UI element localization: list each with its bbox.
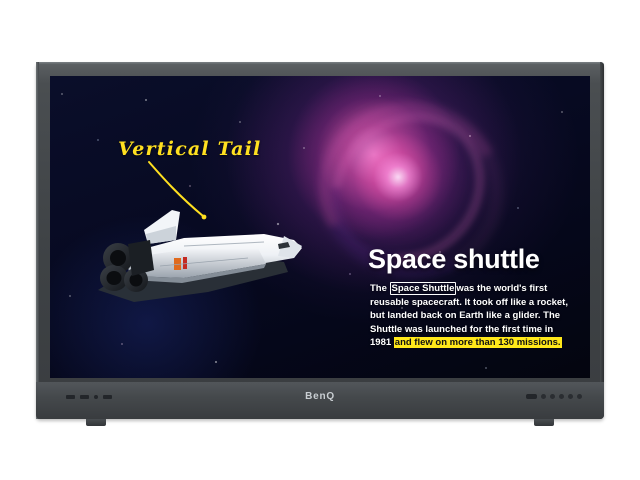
audio-port-icon — [103, 395, 112, 399]
product-photo-stage: Vertical Tail Space shuttle The Space Sh… — [0, 0, 640, 480]
display-chin: BenQ — [36, 382, 604, 419]
power-button-icon[interactable] — [526, 394, 537, 399]
bezel-right-edge — [600, 62, 604, 419]
usb-port-icon — [66, 395, 75, 399]
volume-down-button-icon[interactable] — [550, 394, 555, 399]
bezel-left-edge — [36, 62, 39, 419]
stand-foot-right — [534, 419, 554, 426]
slide-paragraph: The Space Shuttlewas the world's first r… — [370, 282, 574, 350]
ir-sensor-icon — [94, 395, 98, 399]
volume-up-button-icon[interactable] — [559, 394, 564, 399]
display-bezel: Vertical Tail Space shuttle The Space Sh… — [36, 62, 604, 419]
annotation-label: Vertical Tail — [118, 138, 261, 160]
paragraph-lead: The — [370, 283, 387, 294]
space-shuttle-illustration — [88, 186, 318, 326]
slide-title: Space shuttle — [368, 244, 540, 275]
screen-canvas[interactable]: Vertical Tail Space shuttle The Space Sh… — [50, 76, 590, 378]
input-source-button-icon[interactable] — [568, 394, 573, 399]
bezel-top-edge — [36, 62, 604, 65]
hdmi-port-icon — [80, 395, 89, 399]
brand-logo: BenQ — [305, 391, 335, 402]
front-ports[interactable] — [66, 395, 112, 399]
boxed-term: Space Shuttle — [390, 282, 457, 295]
menu-button-icon[interactable] — [541, 394, 546, 399]
home-button-icon[interactable] — [577, 394, 582, 399]
stand-foot-left — [86, 419, 106, 426]
highlighted-sentence: and flew on more than 130 missions. — [394, 337, 562, 348]
front-control-keys[interactable] — [526, 394, 582, 399]
